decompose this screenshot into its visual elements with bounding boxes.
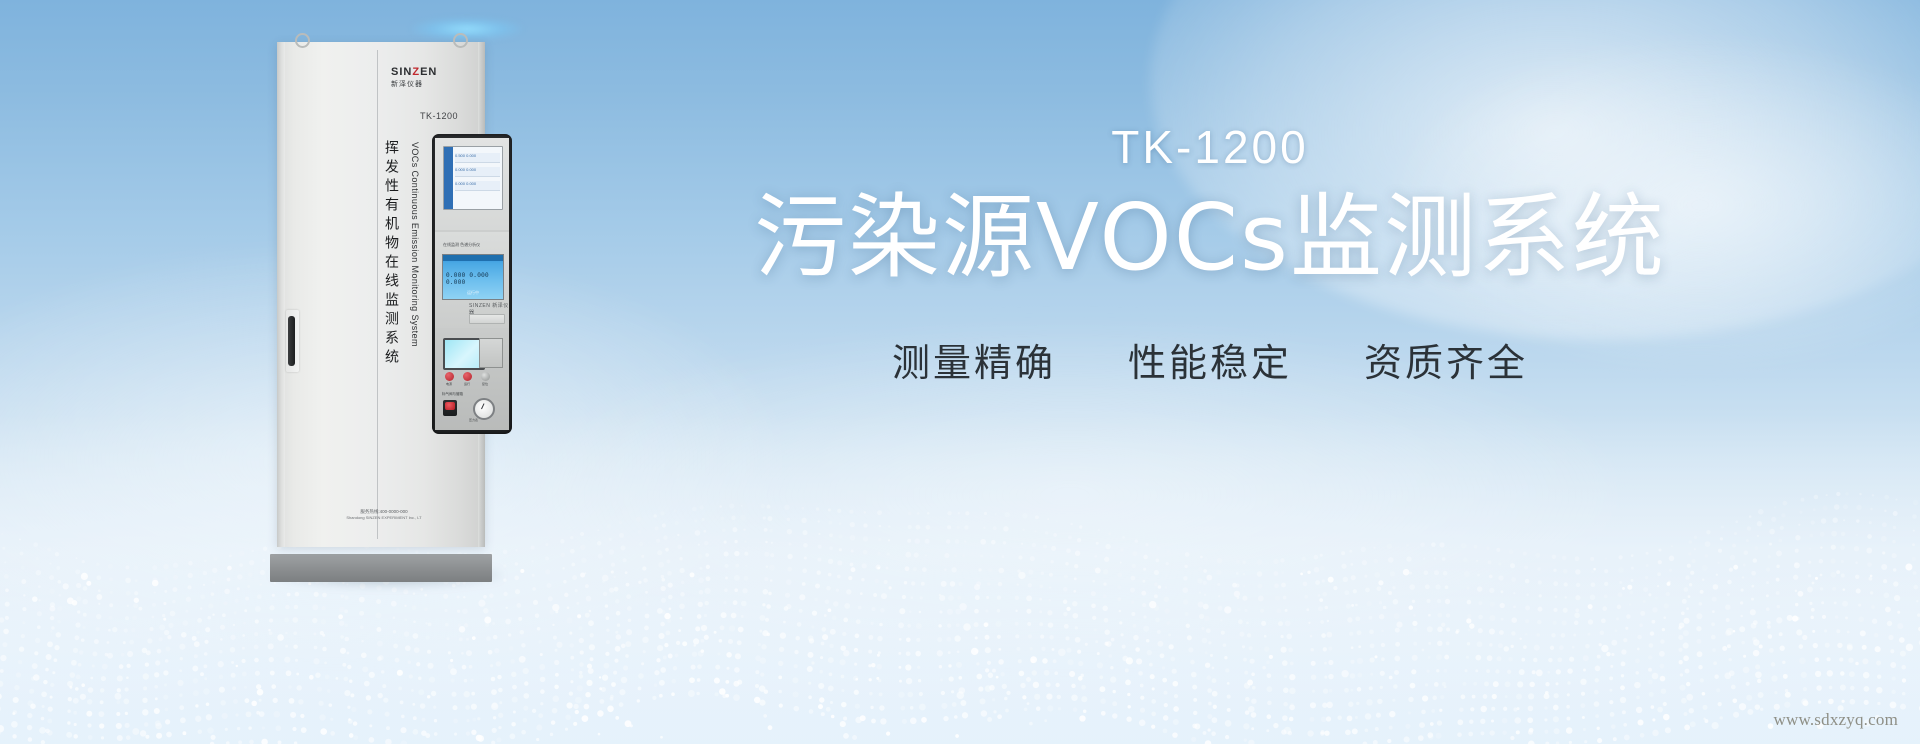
analyzer-display: 0.000 0.000 0.000 运行中 — [442, 254, 504, 300]
cabinet-vertical-chinese-label: 挥发性有机物在线监测系统 — [381, 140, 401, 368]
handle-grip — [288, 316, 295, 366]
gauge-module — [479, 338, 503, 368]
hero-headline: 污染源VOCs监测系统 — [560, 184, 1860, 292]
analyzer-display-titlebar — [443, 255, 503, 261]
knob-label: 复位 — [478, 382, 492, 386]
hmi-touchscreen: 0.500 0.000 0.000 0.000 0.000 0.000 — [443, 146, 503, 210]
cabinet-footer-text: 服务热线:400-0000-000 Shandong SINZEN EXPERI… — [309, 509, 459, 521]
knob-label: 运行 — [460, 382, 474, 386]
brand-name-prefix: SIN — [391, 66, 412, 78]
lifting-eye-right-icon — [453, 33, 468, 48]
analyzer-readout: 0.000 0.000 0.000 — [446, 272, 500, 286]
knob-label: 电源 — [442, 382, 456, 386]
cabinet-body: SINZEN 新泽仪器 TK-1200 挥发性有机物在线监测系统 VOCs Co… — [277, 42, 485, 547]
brand-name-suffix: EN — [420, 66, 437, 78]
analyzer-status: 运行中 — [443, 290, 503, 296]
cabinet-footer-line2: Shandong SINZEN EXPERIMENT Inc., LT — [309, 515, 459, 521]
site-watermark: www.sdxzyq.com — [1774, 710, 1898, 730]
control-panel: 电源 运行 复位 标气阀与管路 压力表 — [435, 330, 509, 430]
cabinet-door-seam — [377, 50, 378, 539]
power-knob — [445, 372, 454, 381]
hero-model-label: TK-1200 — [560, 120, 1860, 174]
pressure-gauge-icon — [473, 398, 495, 420]
hmi-sidebar — [444, 147, 453, 209]
instrument-bay-window: 0.500 0.000 0.000 0.000 0.000 0.000 在线监测… — [432, 134, 512, 434]
cabinet-vertical-english-label: VOCs Continuous Emission Monitoring Syst… — [410, 142, 420, 347]
instrument-bay-interior: 0.500 0.000 0.000 0.000 0.000 0.000 在线监测… — [435, 138, 509, 430]
analyzer-drawer — [469, 314, 505, 324]
brand-name-accent: Z — [412, 66, 420, 78]
pressure-gauge-label: 压力表 — [469, 418, 478, 422]
hmi-data-row: 0.500 0.000 — [455, 153, 500, 163]
brand-name-cn: 新泽仪器 — [391, 79, 437, 89]
hero-feature-item: 资质齐全 — [1364, 332, 1528, 387]
analyzer-panel: 在线监测 色谱分析仪 0.000 0.000 0.000 运行中 SINZEN … — [435, 232, 509, 328]
hmi-panel: 0.500 0.000 0.000 0.000 0.000 0.000 — [435, 138, 509, 230]
cabinet-door-handle — [286, 310, 299, 372]
emergency-stop-cap — [445, 402, 455, 410]
emergency-stop-button — [443, 400, 457, 416]
run-knob — [463, 372, 472, 381]
hero-feature-item: 测量精确 — [892, 332, 1056, 387]
hero-feature-list: 测量精确 性能稳定 资质齐全 — [560, 332, 1860, 387]
hero-feature-item: 性能稳定 — [1128, 332, 1292, 387]
hero-copy-block: TK-1200 污染源VOCs监测系统 测量精确 性能稳定 资质齐全 — [560, 120, 1860, 387]
cabinet-model-label: TK-1200 — [420, 111, 458, 121]
cabinet-base — [270, 554, 492, 582]
product-hero-banner: SINZEN 新泽仪器 TK-1200 挥发性有机物在线监测系统 VOCs Co… — [0, 0, 1920, 744]
cabinet-left-edge — [277, 42, 285, 547]
hmi-data-row: 0.000 0.000 — [455, 167, 500, 177]
valve-section-label: 标气阀与管路 — [442, 392, 463, 397]
reset-knob — [481, 372, 490, 381]
brand-name: SINZEN — [391, 67, 437, 78]
lifting-eye-left-icon — [295, 33, 310, 48]
analyzer-panel-label: 在线监测 色谱分析仪 — [443, 242, 480, 248]
hmi-data-row: 0.000 0.000 — [455, 181, 500, 191]
product-image-cabinet: SINZEN 新泽仪器 TK-1200 挥发性有机物在线监测系统 VOCs Co… — [262, 22, 502, 582]
brand-logo: SINZEN 新泽仪器 — [391, 67, 437, 89]
